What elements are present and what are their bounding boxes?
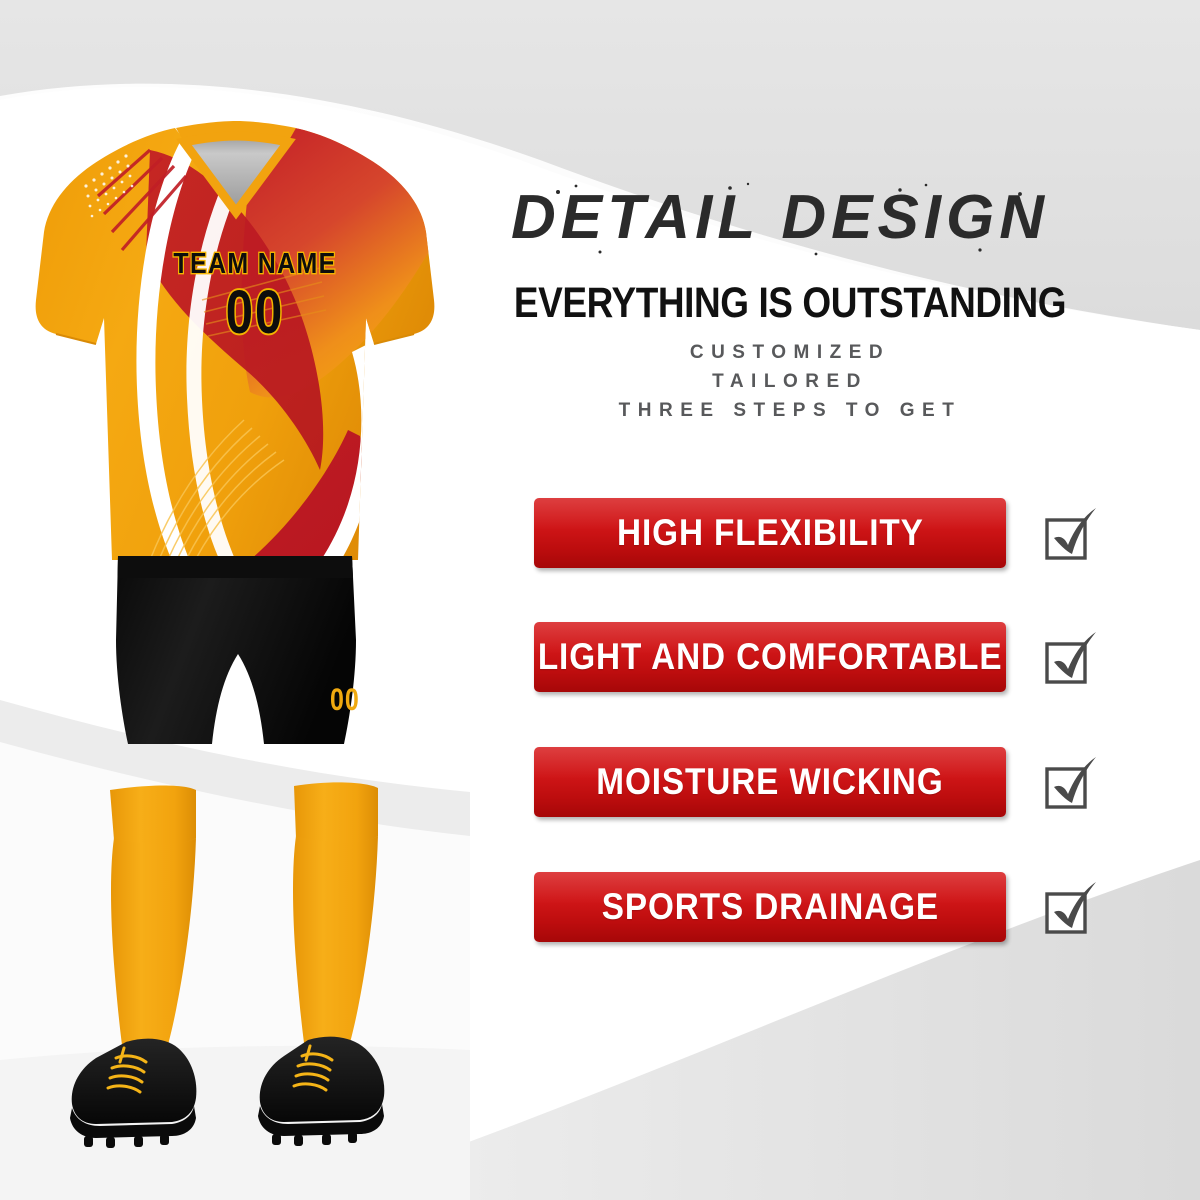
sock-left-leg	[111, 838, 196, 1070]
cleat-right-body	[260, 1037, 385, 1122]
product-detail-banner: TEAM NAME 00 00 DETAIL DESIGN EVERYTHING…	[0, 0, 1200, 1200]
cleat-left-body	[72, 1039, 197, 1124]
feature-banner[interactable]: MOISTURE WICKING	[534, 747, 1006, 817]
feature-label: LIGHT AND COMFORTABLE	[538, 636, 1003, 678]
sock-right-cuff	[294, 782, 378, 843]
checkbox-checked-icon[interactable]	[1041, 626, 1101, 688]
feature-banner[interactable]: HIGH FLEXIBILITY	[534, 498, 1006, 568]
socks	[110, 782, 378, 1070]
shorts	[110, 548, 360, 744]
feature-list: HIGH FLEXIBILITY LIGHT AND COMFORTABLE	[440, 0, 1140, 1200]
checkbox-checked-icon[interactable]	[1041, 502, 1101, 564]
shorts-base	[116, 556, 356, 744]
feature-label: SPORTS DRAINAGE	[601, 886, 938, 928]
cleats	[70, 1037, 384, 1148]
soccer-uniform-illustration: TEAM NAME 00 00	[0, 0, 470, 1200]
feature-row-moisture-wicking[interactable]: MOISTURE WICKING	[534, 745, 1114, 819]
sock-right-leg	[293, 836, 378, 1068]
feature-banner[interactable]: LIGHT AND COMFORTABLE	[534, 622, 1006, 692]
checkbox-checked-icon[interactable]	[1041, 751, 1101, 813]
feature-label: MOISTURE WICKING	[596, 761, 943, 803]
sock-left-cuff	[110, 786, 196, 846]
checkbox-checked-icon[interactable]	[1041, 876, 1101, 938]
feature-banner[interactable]: SPORTS DRAINAGE	[534, 872, 1006, 942]
marketing-copy-column: DETAIL DESIGN EVERYTHING IS OUTSTANDING …	[440, 0, 1140, 1200]
feature-row-high-flexibility[interactable]: HIGH FLEXIBILITY	[534, 496, 1114, 570]
kit-svg	[0, 0, 470, 1200]
feature-row-sports-drainage[interactable]: SPORTS DRAINAGE	[534, 870, 1114, 944]
feature-label: HIGH FLEXIBILITY	[617, 512, 924, 554]
feature-row-light-and-comfortable[interactable]: LIGHT AND COMFORTABLE	[534, 620, 1114, 694]
